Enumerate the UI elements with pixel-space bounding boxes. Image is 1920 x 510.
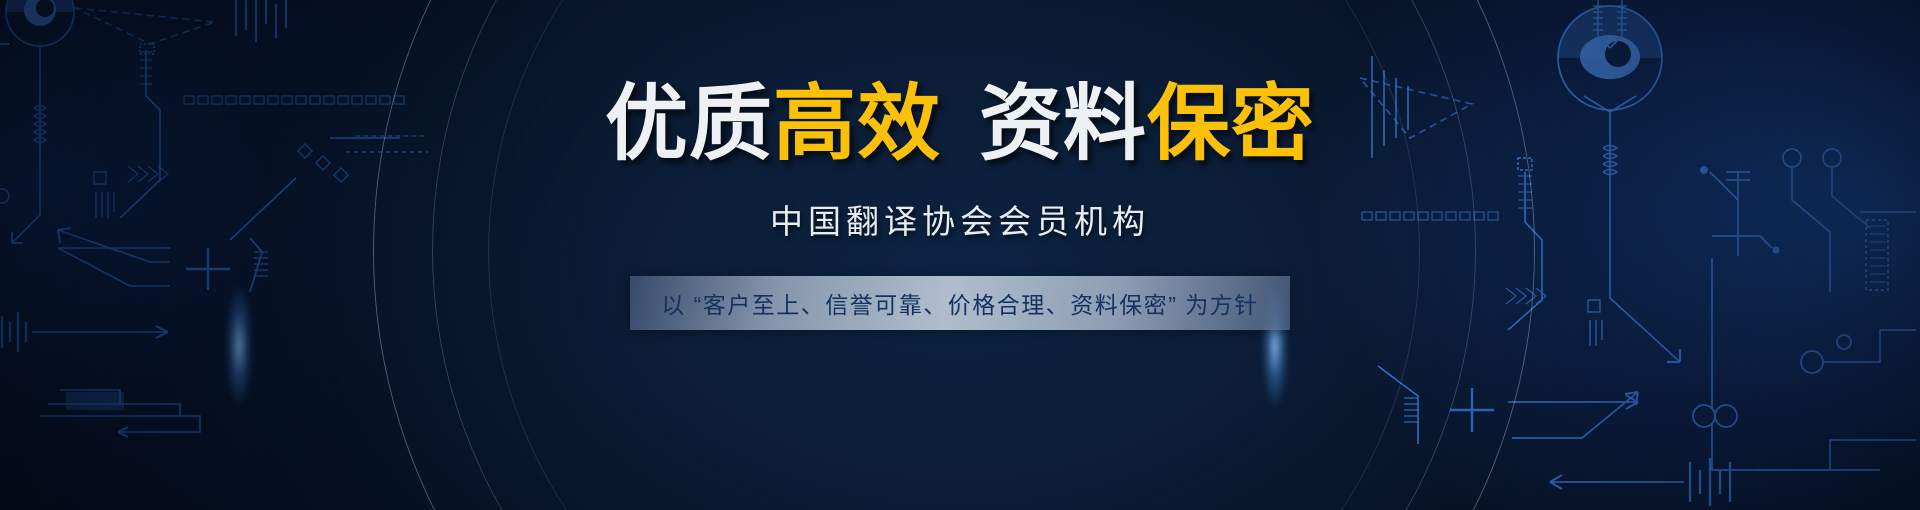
headline-part-1: 优质 [605,77,773,170]
hero-banner: 优质高效资料保密 中国翻译协会会员机构 以 “客户至上、信誉可靠、价格合理、资料… [0,0,1920,510]
headline-part-2: 高效 [773,77,941,170]
headline-part-4: 保密 [1147,77,1315,170]
motto-text: 以 “客户至上、信誉可靠、价格合理、资料保密” 为方针 [661,286,1259,320]
headline-part-3: 资料 [979,77,1147,170]
motto-bar: 以 “客户至上、信誉可靠、价格合理、资料保密” 为方针 [630,276,1290,330]
headline: 优质高效资料保密 [605,82,1315,165]
subtitle: 中国翻译协会会员机构 [770,195,1150,243]
banner-content: 优质高效资料保密 中国翻译协会会员机构 以 “客户至上、信誉可靠、价格合理、资料… [0,0,1920,510]
